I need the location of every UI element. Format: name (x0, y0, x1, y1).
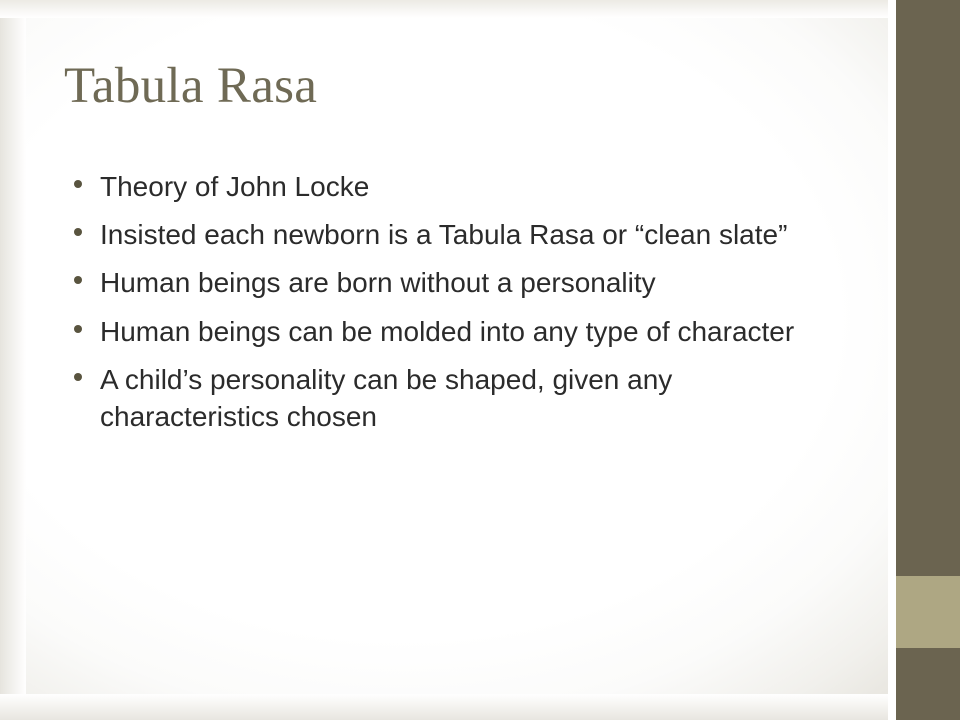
list-item: Human beings are born without a personal… (64, 264, 834, 301)
list-item-text: A child’s personality can be shaped, giv… (100, 364, 672, 432)
bullet-dot-icon (74, 325, 82, 333)
background-left-edge (0, 0, 26, 720)
background-top-edge (0, 0, 896, 18)
bullet-dot-icon (74, 228, 82, 236)
slide: Tabula Rasa Theory of John Locke Insiste… (0, 0, 960, 720)
list-item: Theory of John Locke (64, 168, 834, 205)
slide-bullet-list: Theory of John Locke Insisted each newbo… (64, 168, 834, 446)
list-item: Human beings can be molded into any type… (64, 313, 834, 350)
bullet-dot-icon (74, 180, 82, 188)
list-item: A child’s personality can be shaped, giv… (64, 361, 834, 435)
bullet-dot-icon (74, 373, 82, 381)
list-item-text: Human beings can be molded into any type… (100, 316, 794, 347)
right-accent-light-block (896, 576, 960, 648)
right-band-white-gap (888, 0, 896, 720)
list-item-text: Human beings are born without a personal… (100, 267, 656, 298)
right-accent-dark-block (896, 648, 960, 720)
list-item: Insisted each newborn is a Tabula Rasa o… (64, 216, 834, 253)
bullet-dot-icon (74, 276, 82, 284)
background-bottom-edge (0, 694, 896, 720)
list-item-text: Theory of John Locke (100, 171, 369, 202)
slide-title: Tabula Rasa (64, 58, 824, 114)
list-item-text: Insisted each newborn is a Tabula Rasa o… (100, 219, 787, 250)
